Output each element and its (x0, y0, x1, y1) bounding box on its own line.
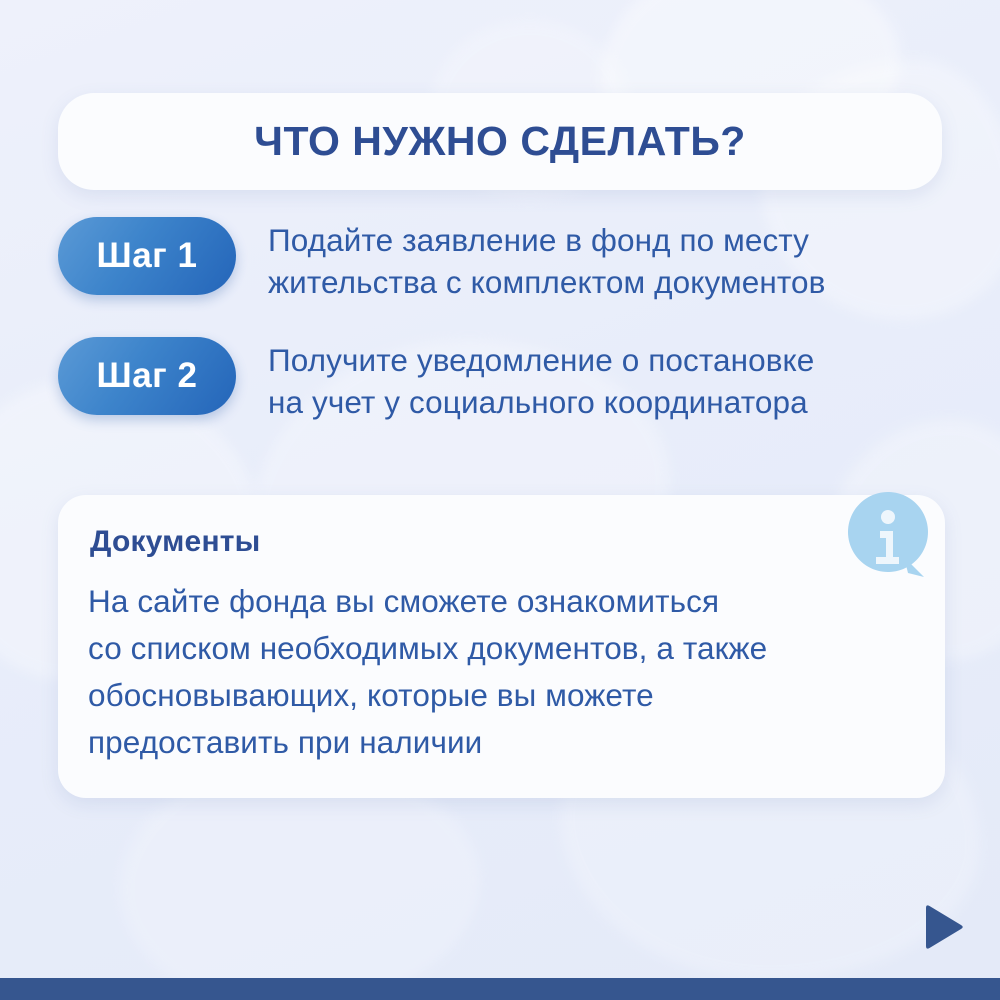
play-arrow-icon[interactable] (921, 903, 965, 951)
title-card: ЧТО НУЖНО СДЕЛАТЬ? (58, 93, 942, 190)
step-badge-1: Шаг 1 (58, 217, 236, 295)
documents-body-line-1: На сайте фонда вы сможете ознакомиться (88, 578, 878, 625)
step-text-2: Получите уведомление о постановке на уче… (268, 337, 814, 423)
documents-body-line-4: предоставить при наличии (88, 719, 878, 766)
documents-card: Документы На сайте фонда вы сможете озна… (58, 495, 945, 798)
documents-body: На сайте фонда вы сможете ознакомиться с… (88, 578, 878, 766)
page-title: ЧТО НУЖНО СДЕЛАТЬ? (254, 118, 746, 165)
info-bubble-icon (842, 489, 934, 581)
documents-body-line-2: со списком необходимых документов, а так… (88, 625, 878, 672)
documents-body-line-3: обосновывающих, которые вы можете (88, 672, 878, 719)
bottom-bar (0, 978, 1000, 1000)
step-row-1: Шаг 1 Подайте заявление в фонд по месту … (58, 217, 948, 303)
step-text-2-line-1: Получите уведомление о постановке (268, 339, 814, 381)
step-row-2: Шаг 2 Получите уведомление о постановке … (58, 337, 948, 423)
step-badge-2: Шаг 2 (58, 337, 236, 415)
infographic-slide: ЧТО НУЖНО СДЕЛАТЬ? Шаг 1 Подайте заявлен… (0, 0, 1000, 1000)
step-text-1: Подайте заявление в фонд по месту житель… (268, 217, 825, 303)
documents-heading: Документы (90, 525, 260, 559)
step-text-1-line-2: жительства с комплектом документов (268, 261, 825, 303)
step-text-2-line-2: на учет у социального координатора (268, 381, 814, 423)
step-text-1-line-1: Подайте заявление в фонд по месту (268, 219, 825, 261)
